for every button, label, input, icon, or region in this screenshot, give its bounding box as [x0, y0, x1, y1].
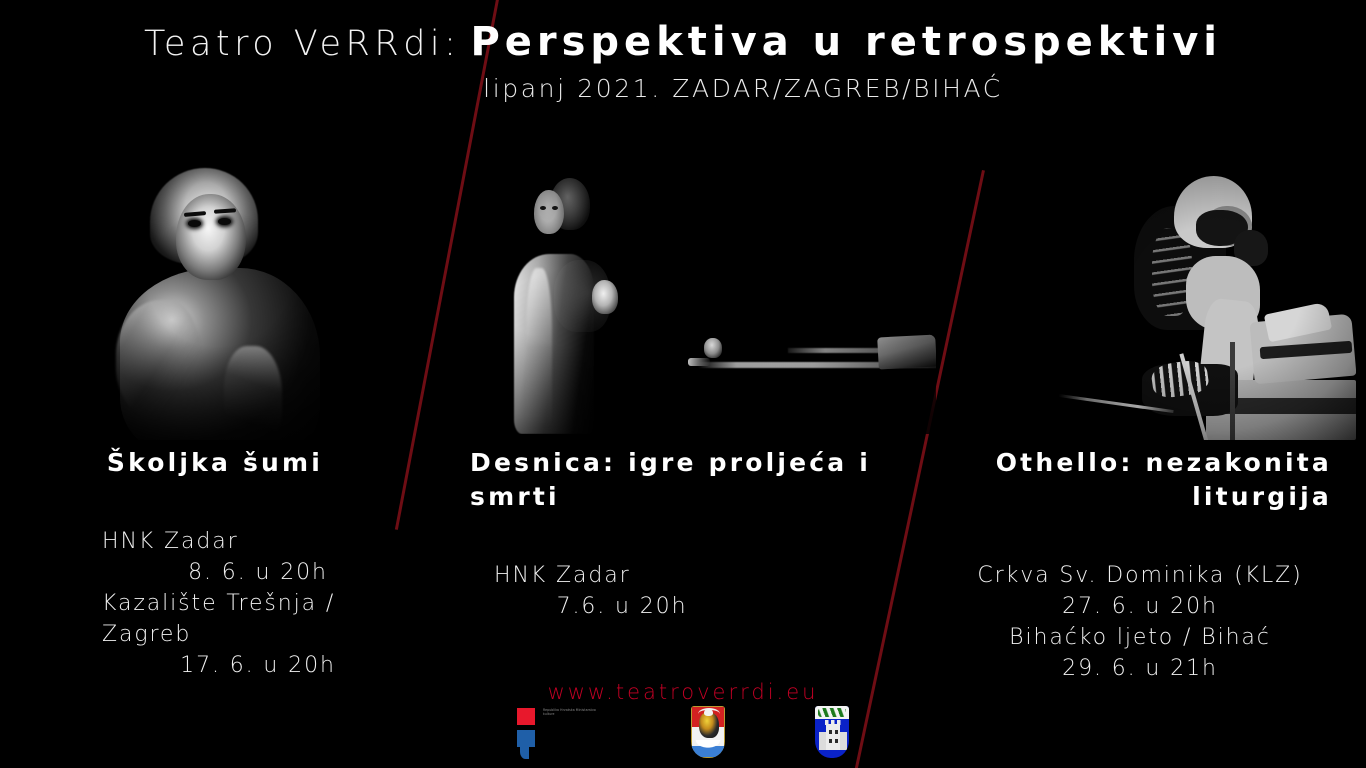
title-line: Teatro VeRRdi:Perspektiva u retrospektiv…	[0, 18, 1366, 68]
venue-name: HNK Zadar	[470, 560, 900, 591]
venue-date: 8. 6. u 20h	[78, 557, 388, 588]
production-title: Othello: nezakonita liturgija	[940, 446, 1340, 514]
venue-name: Bihaćko ljeto / Bihać	[940, 622, 1340, 653]
county-shield	[691, 706, 725, 758]
production-column-2: Desnica: igre proljeća i smrti HNK Zadar…	[470, 446, 900, 622]
county-arc	[698, 708, 720, 720]
venue-list: HNK Zadar 7.6. u 20h	[470, 560, 900, 622]
city-laurel-branch	[818, 708, 846, 717]
event-poster: Teatro VeRRdi:Perspektiva u retrospektiv…	[0, 0, 1366, 768]
sponsor-logos: Republika Hrvatska Ministarstvo kulture	[0, 706, 1366, 762]
production-column-3: Othello: nezakonita liturgija Crkva Sv. …	[940, 446, 1340, 684]
venue-list: HNK Zadar 8. 6. u 20h Kazalište Trešnja …	[78, 526, 388, 681]
production-photo-3	[1056, 166, 1356, 440]
ministry-of-culture-logo: Republika Hrvatska Ministarstvo kulture	[511, 706, 607, 760]
venue-name: HNK Zadar	[78, 526, 388, 557]
production-title: Desnica: igre proljeća i smrti	[470, 446, 900, 514]
venue-list: Crkva Sv. Dominika (KLZ) 27. 6. u 20h Bi…	[940, 560, 1340, 684]
production-photo-2	[492, 168, 936, 434]
zadar-city-coat-of-arms	[809, 706, 855, 762]
page-title: Perspektiva u retrospektivi	[470, 19, 1222, 65]
venue-date: 27. 6. u 20h	[940, 591, 1340, 622]
zadar-county-coat-of-arms	[685, 706, 731, 762]
poster-header: Teatro VeRRdi:Perspektiva u retrospektiv…	[0, 18, 1366, 103]
ministry-wordmark: Republika Hrvatska Ministarstvo kulture	[543, 708, 601, 717]
ministry-comma-mark	[517, 730, 535, 747]
venue-date: 7.6. u 20h	[470, 591, 750, 622]
city-tower-window	[829, 730, 832, 734]
venue-name: Crkva Sv. Dominika (KLZ)	[940, 560, 1340, 591]
city-tower-window	[835, 739, 838, 743]
city-tower-window	[835, 730, 838, 734]
production-title: Školjka šumi	[78, 446, 388, 480]
production-photo-1	[96, 150, 386, 440]
subtitle: lipanj 2021. ZADAR/ZAGREB/BIHAĆ	[0, 74, 1286, 103]
photo-vignette	[96, 150, 386, 440]
company-name: Teatro VeRRdi:	[144, 24, 460, 64]
venue-name-continued: Zagreb	[78, 619, 388, 650]
production-column-1: Školjka šumi HNK Zadar 8. 6. u 20h Kazal…	[78, 446, 388, 681]
city-tower-window	[829, 739, 832, 743]
venue-name: Kazalište Trešnja /	[78, 588, 388, 619]
city-shield	[815, 706, 849, 758]
photo-vignette	[492, 168, 936, 434]
county-wave	[692, 740, 724, 750]
city-tower	[826, 724, 840, 750]
city-tower-wing-right	[839, 732, 847, 750]
photo-vignette	[1056, 166, 1356, 440]
venue-date: 17. 6. u 20h	[78, 650, 388, 681]
ministry-red-square	[517, 708, 535, 725]
website-url[interactable]: www.teatroverrdi.eu	[0, 680, 1366, 704]
